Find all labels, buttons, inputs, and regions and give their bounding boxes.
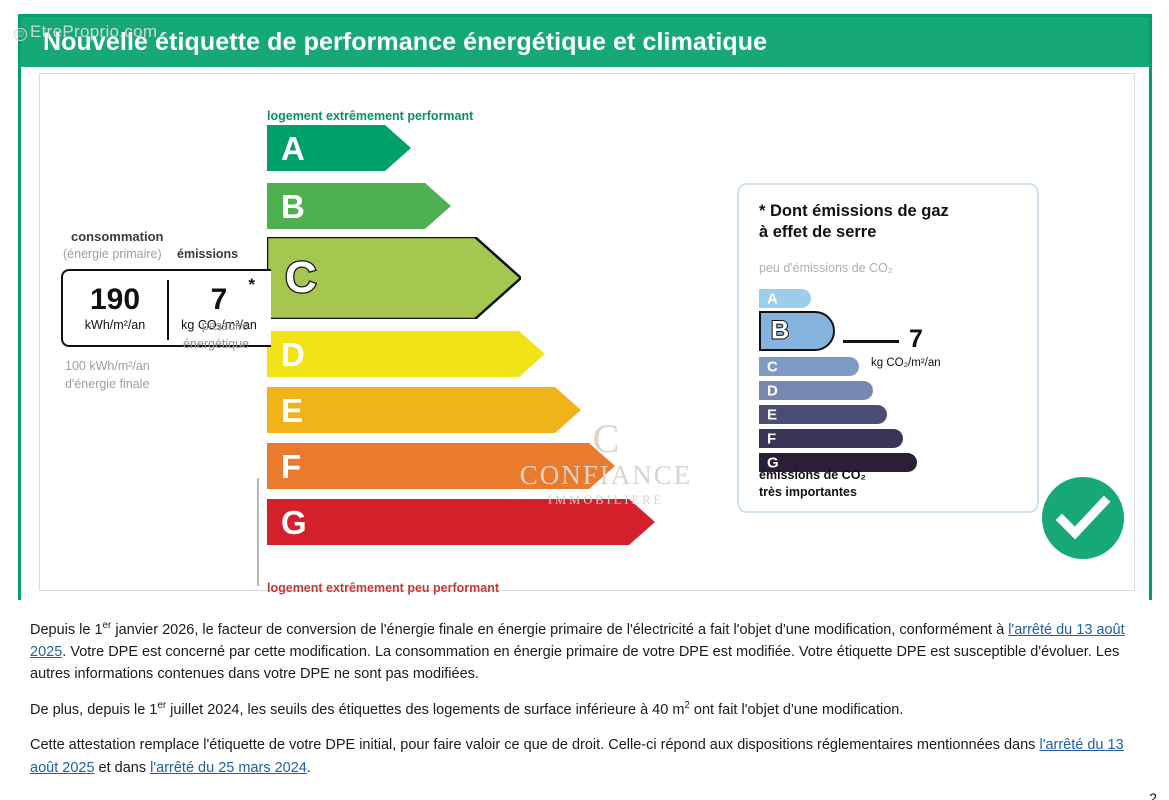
p3-end: . <box>307 760 311 776</box>
band-letter: G <box>281 499 307 545</box>
energy-ladder: logement extrêmement performant logement… <box>253 125 673 565</box>
band-letter: A <box>281 125 305 171</box>
ges-bar-e: E <box>759 405 887 424</box>
energy-band-e: E <box>267 387 581 433</box>
check-icon <box>1042 477 1124 559</box>
asterisk-marker: * <box>248 275 255 295</box>
consumption-sublabel: (énergie primaire) <box>63 247 162 261</box>
ges-bar-letter: F <box>767 431 776 446</box>
ges-unit: kg CO₂/m²/an <box>871 357 941 369</box>
band-arrow-shape <box>267 387 581 433</box>
band-arrow-shape <box>267 443 615 489</box>
band-letter: E <box>281 387 303 433</box>
p2-part-b: juillet 2024, les seuils des étiquettes … <box>166 702 684 718</box>
band-letter: F <box>281 443 301 489</box>
consumption-value: 190 <box>90 285 140 315</box>
ges-bar-d: D <box>759 381 873 400</box>
ges-bar-c: C <box>759 357 859 376</box>
card-body: logement extrêmement performant logement… <box>21 67 1149 603</box>
final-energy-note: 100 kWh/m²/an d'énergie finale <box>65 357 150 393</box>
ges-bar-a: A <box>759 289 811 308</box>
ges-bar-letter: D <box>767 383 778 398</box>
ladder-bottom-note: logement extrêmement peu performant <box>267 581 499 595</box>
dpe-card: Nouvelle étiquette de performance énergé… <box>18 14 1152 600</box>
band-arrow-shape <box>267 499 655 545</box>
p1-part-b: janvier 2026, le facteur de conversion d… <box>111 622 1008 638</box>
passoire-note: passoire énergétique <box>139 317 249 353</box>
p3-part-a: Cette attestation remplace l'étiquette d… <box>30 737 1039 753</box>
emissions-label: émissions <box>177 247 238 261</box>
ges-footer-note: émissions de CO₂ très importantes <box>759 467 866 501</box>
ges-bar-letter: A <box>767 291 778 306</box>
page-root: ©EtreProprio.com Nouvelle étiquette de p… <box>0 0 1169 800</box>
p2-sup: er <box>157 700 166 711</box>
ges-value: 7 <box>909 327 923 352</box>
p1-sup: er <box>103 620 112 631</box>
p1-part-c: . Votre DPE est concerné par cette modif… <box>30 644 1119 682</box>
p3-middle: et dans <box>95 760 151 776</box>
p1-part-a: Depuis le 1 <box>30 622 103 638</box>
page-number: 2 <box>1149 790 1157 800</box>
energy-band-b: B <box>267 183 451 229</box>
band-letter: D <box>281 331 305 377</box>
energy-band-g: G <box>267 499 655 545</box>
link-arrete-25-mars-2024[interactable]: l'arrêté du 25 mars 2024 <box>150 760 307 776</box>
page-title: Nouvelle étiquette de performance énergé… <box>43 28 767 57</box>
energy-band-d: D <box>267 331 545 377</box>
ges-panel: * Dont émissions de gaz à effet de serre… <box>737 183 1039 513</box>
energy-band-a: A <box>267 125 411 171</box>
ges-bar-letter: C <box>767 359 778 374</box>
energy-band-f: F <box>267 443 615 489</box>
ges-bar-b: B <box>759 311 835 351</box>
status-badge <box>1042 477 1124 559</box>
p2-part-c: ont fait l'objet d'une modification. <box>690 702 904 718</box>
card-header: Nouvelle étiquette de performance énergé… <box>21 17 1149 67</box>
energy-band-c: C <box>267 237 521 319</box>
legal-paragraph-3: Cette attestation remplace l'étiquette d… <box>30 734 1150 778</box>
emissions-value: 7 <box>211 285 228 315</box>
legal-paragraph-1: Depuis le 1er janvier 2026, le facteur d… <box>30 618 1150 685</box>
ges-subtitle: peu d'émissions de CO₂ <box>759 261 893 275</box>
ges-bar-f: F <box>759 429 903 448</box>
legal-paragraph-2: De plus, depuis le 1er juillet 2024, les… <box>30 698 1150 721</box>
consumption-label: consommation <box>71 229 163 244</box>
band-letter: B <box>281 183 305 229</box>
ges-title: * Dont émissions de gaz à effet de serre <box>759 201 949 242</box>
ges-leader-line <box>843 340 899 343</box>
ges-bar-letter: B <box>771 319 789 344</box>
band-arrow-shape <box>267 331 545 377</box>
legal-text: Depuis le 1er janvier 2026, le facteur d… <box>30 618 1150 792</box>
consumption-unit: kWh/m²/an <box>85 318 145 332</box>
passoire-rule <box>257 478 259 586</box>
p2-part-a: De plus, depuis le 1 <box>30 702 157 718</box>
band-letter: C <box>285 237 317 319</box>
ges-bar-letter: E <box>767 407 777 422</box>
ladder-top-note: logement extrêmement performant <box>267 109 473 123</box>
